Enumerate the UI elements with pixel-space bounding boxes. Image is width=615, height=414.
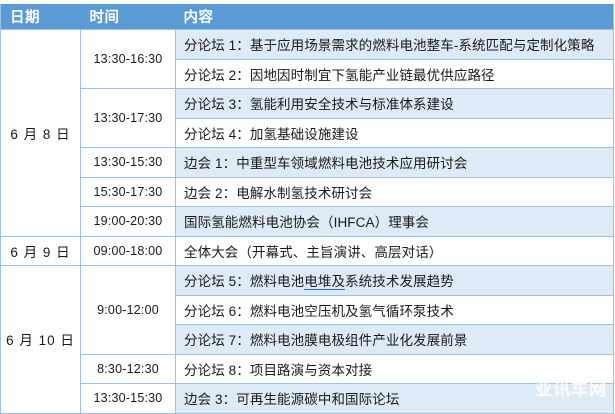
session-topic-cell: 全体大会（开幕式、主旨演讲、高层对话） bbox=[176, 236, 614, 266]
session-topic-cell: 分论坛 5：燃料电池电堆及系统技术发展趋势 bbox=[176, 266, 614, 296]
time-cell: 13:30-16:30 bbox=[81, 30, 176, 89]
table-row: 8:30-12:30分论坛 8：项目路演与资本对接 bbox=[1, 354, 614, 384]
session-topic-cell: 边会 2：电解水制氢技术研讨会 bbox=[176, 177, 614, 207]
column-header-date: 日期 bbox=[1, 4, 81, 30]
date-cell: 6 月 10 日 bbox=[1, 266, 81, 414]
session-topic-cell: 分论坛 4：加氢基础设施建设 bbox=[176, 118, 614, 148]
date-cell: 6 月 8 日 bbox=[1, 30, 81, 237]
time-cell: 13:30-15:30 bbox=[81, 148, 176, 178]
table-row: 6 月 9 日09:00-18:00全体大会（开幕式、主旨演讲、高层对话） bbox=[1, 236, 614, 266]
time-cell: 13:30-17:30 bbox=[81, 89, 176, 148]
header-row: 日期 时间 内容 bbox=[1, 4, 614, 30]
table-row: 6 月 10 日9:00-12:00分论坛 5：燃料电池电堆及系统技术发展趋势 bbox=[1, 266, 614, 296]
time-cell: 13:30-15:30 bbox=[81, 384, 176, 414]
table-row: 13:30-15:30边会 3：可再生能源碳中和国际论坛 bbox=[1, 384, 614, 414]
session-topic-cell: 分论坛 1：基于应用场景需求的燃料电池整车-系统匹配与定制化策略 bbox=[176, 30, 614, 60]
time-cell: 9:00-12:00 bbox=[81, 266, 176, 355]
conference-schedule-table: 日期 时间 内容 6 月 8 日13:30-16:30分论坛 1：基于应用场景需… bbox=[0, 4, 614, 414]
table-row: 13:30-17:30分论坛 3：氢能利用安全技术与标准体系建设 bbox=[1, 89, 614, 119]
session-topic-text-suffix: 系统技术发展趋势 bbox=[345, 274, 454, 289]
table-row: 13:30-15:30边会 1：中重型车领域燃料电池技术应用研讨会 bbox=[1, 148, 614, 178]
session-topic-cell: 国际氢能燃料电池协会（IHFCA）理事会 bbox=[176, 207, 614, 237]
session-topic-cell: 分论坛 7：燃料电池膜电极组件产业化发展前景 bbox=[176, 325, 614, 355]
session-topic-cell: 分论坛 3：氢能利用安全技术与标准体系建设 bbox=[176, 89, 614, 119]
spellcheck-marked-text: 电堆及 bbox=[304, 274, 345, 290]
table-row: 19:00-20:30国际氢能燃料电池协会（IHFCA）理事会 bbox=[1, 207, 614, 237]
table-header: 日期 时间 内容 bbox=[1, 4, 614, 30]
column-header-time: 时间 bbox=[81, 4, 176, 30]
time-cell: 15:30-17:30 bbox=[81, 177, 176, 207]
time-cell: 09:00-18:00 bbox=[81, 236, 176, 266]
time-cell: 8:30-12:30 bbox=[81, 354, 176, 384]
session-topic-cell: 分论坛 2：因地因时制宜下氢能产业链最优供应路径 bbox=[176, 59, 614, 89]
session-topic-text: 分论坛 5：燃料电池 bbox=[184, 274, 304, 289]
table-row: 15:30-17:30边会 2：电解水制氢技术研讨会 bbox=[1, 177, 614, 207]
session-topic-cell: 分论坛 6：燃料电池空压机及氢气循环泵技术 bbox=[176, 295, 614, 325]
session-topic-cell: 边会 1：中重型车领域燃料电池技术应用研讨会 bbox=[176, 148, 614, 178]
column-header-topic: 内容 bbox=[176, 4, 614, 30]
date-cell: 6 月 9 日 bbox=[1, 236, 81, 266]
table-row: 6 月 8 日13:30-16:30分论坛 1：基于应用场景需求的燃料电池整车-… bbox=[1, 30, 614, 60]
conference-schedule-container: 日期 时间 内容 6 月 8 日13:30-16:30分论坛 1：基于应用场景需… bbox=[0, 4, 615, 414]
session-topic-cell: 边会 3：可再生能源碳中和国际论坛 bbox=[176, 384, 614, 414]
table-body: 6 月 8 日13:30-16:30分论坛 1：基于应用场景需求的燃料电池整车-… bbox=[1, 30, 614, 414]
session-topic-cell: 分论坛 8：项目路演与资本对接 bbox=[176, 354, 614, 384]
time-cell: 19:00-20:30 bbox=[81, 207, 176, 237]
